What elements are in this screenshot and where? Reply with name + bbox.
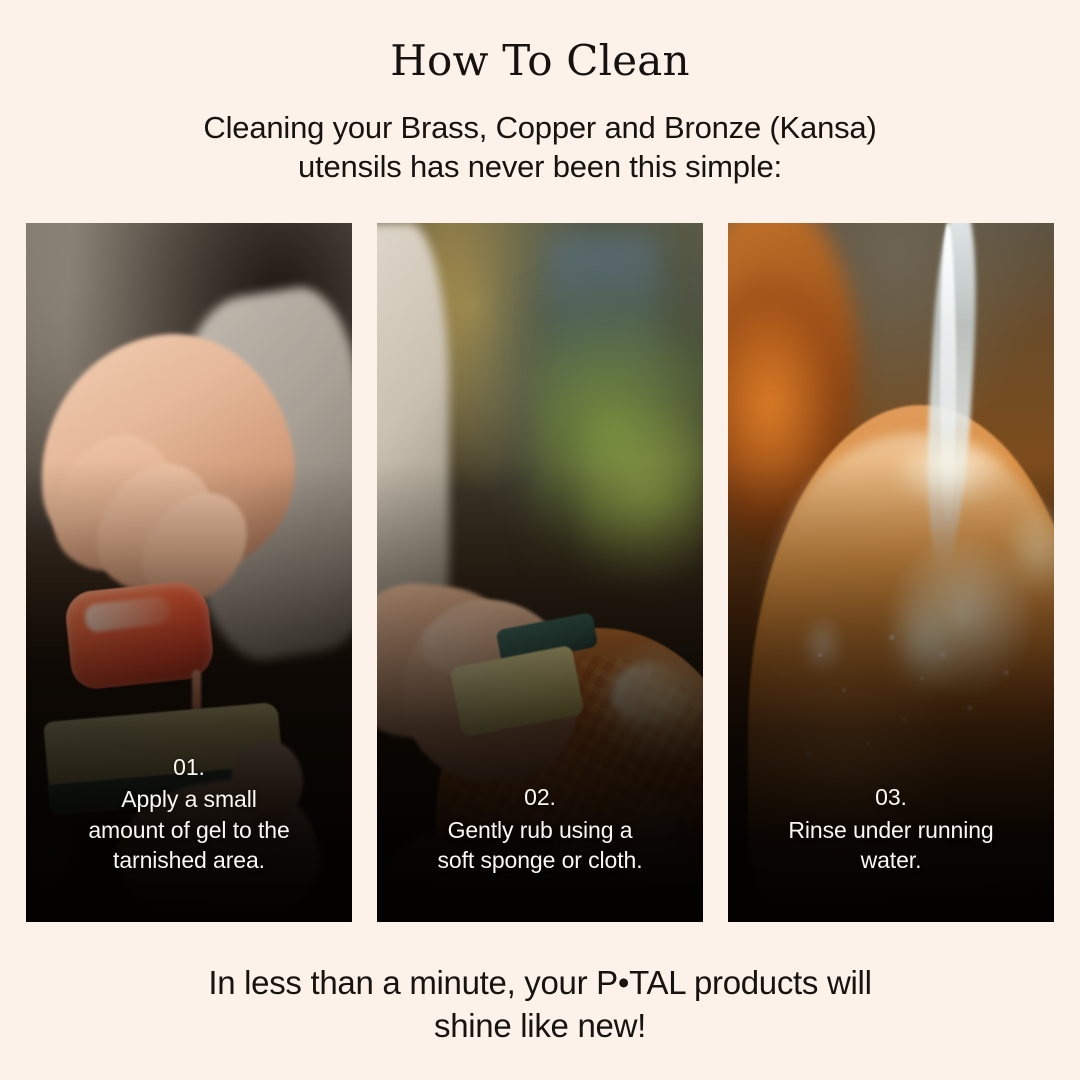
step-3-number: 03.	[736, 782, 1046, 813]
subtitle-line-2: utensils has never been this simple:	[0, 147, 1080, 187]
infographic-page: How To Clean Cleaning your Brass, Copper…	[0, 0, 1080, 1080]
page-title: How To Clean	[0, 0, 1080, 86]
step-2-caption-line-2: soft sponge or cloth.	[385, 845, 695, 876]
step-3-caption-line-2: water.	[736, 845, 1046, 876]
footer-line-2: shine like new!	[0, 1005, 1080, 1048]
header: How To Clean Cleaning your Brass, Copper…	[0, 0, 1080, 187]
step-3-caption: 03. Rinse under running water.	[736, 782, 1046, 876]
page-subtitle: Cleaning your Brass, Copper and Bronze (…	[0, 86, 1080, 187]
step-panel-2: 02. Gently rub using a soft sponge or cl…	[377, 223, 703, 922]
step-panel-1: 01. Apply a small amount of gel to the t…	[26, 223, 352, 922]
footer-line-1: In less than a minute, your P•TAL produc…	[0, 962, 1080, 1005]
steps-gallery: 01. Apply a small amount of gel to the t…	[26, 223, 1054, 922]
subtitle-line-1: Cleaning your Brass, Copper and Bronze (…	[0, 108, 1080, 148]
footer-message: In less than a minute, your P•TAL produc…	[0, 962, 1080, 1048]
step-2-caption-line-1: Gently rub using a	[385, 815, 695, 846]
step-2-caption: 02. Gently rub using a soft sponge or cl…	[385, 782, 695, 876]
step-3-caption-line-1: Rinse under running	[736, 815, 1046, 846]
step-1-caption: 01. Apply a small amount of gel to the t…	[34, 752, 344, 876]
step-2-number: 02.	[385, 782, 695, 813]
step-panel-3: 03. Rinse under running water.	[728, 223, 1054, 922]
step-1-caption-line-2: amount of gel to the	[34, 815, 344, 846]
step-1-number: 01.	[34, 752, 344, 783]
step-1-caption-line-1: Apply a small	[34, 784, 344, 815]
step-1-caption-line-3: tarnished area.	[34, 845, 344, 876]
